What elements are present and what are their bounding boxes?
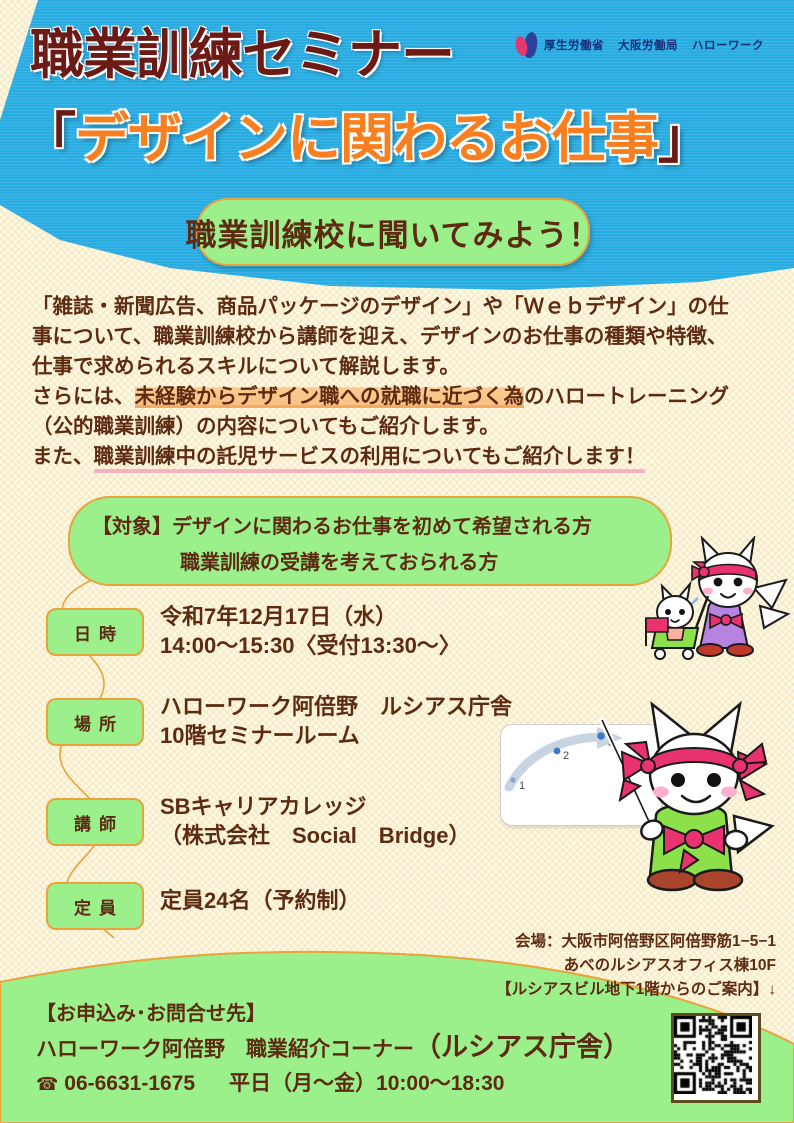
description-highlight-orange: 未経験からデザイン職への就職に近づく為: [135, 385, 525, 408]
svg-text:2: 2: [563, 750, 569, 762]
info-label-capacity: 定員: [46, 882, 144, 930]
info-value-capacity: 定員24名（予約制）: [160, 886, 360, 915]
info-label-place: 場所: [46, 698, 144, 746]
info-value-lecturer-line1: SBキャリアカレッジ: [160, 792, 470, 821]
ministry-names: 厚生労働省大阪労働局ハローワーク: [544, 37, 778, 53]
info-value-lecturer-line2: （株式会社 Social Bridge）: [160, 821, 470, 850]
description-line-5: （公的職業訓練）の内容についてもご紹介します。: [32, 412, 772, 442]
contact-office: ハローワーク阿倍野 職業紹介コーナー（ルシアス庁舎）: [36, 1030, 630, 1067]
venue-line-2: あべのルシアスオフィス棟10F: [496, 954, 776, 978]
description-block: 「雑誌・新聞広告、商品パッケージのデザイン」や「Ｗｅｂデザイン」の仕 事について…: [32, 292, 772, 472]
qr-code[interactable]: [671, 1013, 761, 1103]
title-quote-close: 」: [658, 109, 711, 169]
venue-line-1: 会場：大阪市阿倍野区阿倍野筋1−5−1: [496, 930, 776, 954]
contact-phone-line: ☎ 06-6631-1675平日（月〜金）10:00〜18:30: [36, 1067, 630, 1101]
target-audience-box: 【対象】デザインに関わるお仕事を初めて希望される方 職業訓練の受講を考えておられ…: [68, 496, 672, 586]
target-line-1: 【対象】デザインに関わるお仕事を初めて希望される方: [92, 510, 592, 539]
description-line-6-pre: また、: [32, 445, 94, 468]
title-quote-open: 「: [22, 109, 75, 169]
info-value-place: ハローワーク阿倍野 ルシアス庁舎 10階セミナールーム: [160, 692, 512, 750]
description-line-1: 「雑誌・新聞広告、商品パッケージのデザイン」や「Ｗｅｂデザイン」の仕: [32, 292, 772, 322]
info-value-place-line2: 10階セミナールーム: [160, 721, 512, 750]
ministry-name-0: 厚生労働省: [544, 40, 604, 52]
subtitle-pill: 職業訓練校に聞いてみよう！: [196, 198, 590, 266]
ministry-logo-row: 厚生労働省大阪労働局ハローワーク: [516, 32, 778, 58]
mhlw-logo-icon: [516, 32, 538, 58]
info-label-lecturer: 講師: [46, 798, 144, 846]
description-line-4-pre: さらには、: [32, 385, 135, 408]
info-label-datetime-text: 日時: [66, 620, 124, 645]
contact-hours: 平日（月〜金）10:00〜18:30: [229, 1072, 504, 1095]
description-line-6: また、職業訓練中の託児サービスの利用についてもご紹介します！: [32, 442, 772, 472]
info-label-capacity-text: 定員: [66, 894, 124, 919]
description-line-2: 事について、職業訓練校から講師を迎え、デザインのお仕事の種類や特徴、: [32, 322, 772, 352]
title-line-2: 「デザインに関わるお仕事」: [22, 112, 711, 166]
target-line-2: 職業訓練の受講を考えておられる方: [180, 546, 498, 575]
ministry-name-2: ハローワーク: [692, 40, 764, 52]
subtitle-text: 職業訓練校に聞いてみよう！: [185, 210, 600, 255]
ministry-name-1: 大阪労働局: [618, 40, 678, 52]
info-value-datetime-line1: 令和7年12月17日（水）: [160, 602, 461, 631]
info-label-place-text: 場所: [66, 710, 124, 735]
title-line-1: 職業訓練セミナー: [30, 28, 454, 82]
svg-text:1: 1: [519, 780, 525, 792]
contact-phone-number[interactable]: 06-6631-1675: [64, 1072, 195, 1095]
info-value-datetime: 令和7年12月17日（水） 14:00〜15:30〈受付13:30〜〉: [160, 602, 461, 660]
contact-block: 【お申込み･お問合せ先】 ハローワーク阿倍野 職業紹介コーナー（ルシアス庁舎） …: [36, 999, 630, 1101]
mascot-rabbit-with-pointer-icon: [594, 700, 794, 920]
description-highlight-pink: 職業訓練中の託児サービスの利用についてもご紹介します！: [94, 445, 646, 473]
telephone-icon: ☎: [36, 1074, 58, 1094]
contact-office-sub: （ルシアス庁舎）: [414, 1032, 630, 1062]
venue-address-block: 会場：大阪市阿倍野区阿倍野筋1−5−1 あべのルシアスオフィス棟10F 【ルシア…: [496, 930, 776, 1002]
description-line-4-post: のハロートレーニング: [524, 385, 729, 408]
info-label-datetime: 日時: [46, 608, 144, 656]
description-line-4: さらには、未経験からデザイン職への就職に近づく為のハロートレーニング: [32, 382, 772, 412]
description-line-3: 仕事で求められるスキルについて解説します。: [32, 352, 772, 382]
info-value-capacity-line1: 定員24名（予約制）: [160, 886, 360, 915]
contact-heading: 【お申込み･お問合せ先】: [36, 999, 630, 1030]
poster-root: 厚生労働省大阪労働局ハローワーク 職業訓練セミナー 「デザインに関わるお仕事」 …: [0, 0, 794, 1123]
contact-office-main: ハローワーク阿倍野 職業紹介コーナー: [36, 1038, 414, 1061]
title-line-2-main: デザインに関わるお仕事: [75, 109, 658, 169]
info-label-lecturer-text: 講師: [66, 810, 124, 835]
info-value-lecturer: SBキャリアカレッジ （株式会社 Social Bridge）: [160, 792, 470, 850]
mascot-rabbit-with-stroller-icon: [636, 536, 792, 672]
info-value-datetime-line2: 14:00〜15:30〈受付13:30〜〉: [160, 631, 461, 660]
info-value-place-line1: ハローワーク阿倍野 ルシアス庁舎: [160, 692, 512, 721]
